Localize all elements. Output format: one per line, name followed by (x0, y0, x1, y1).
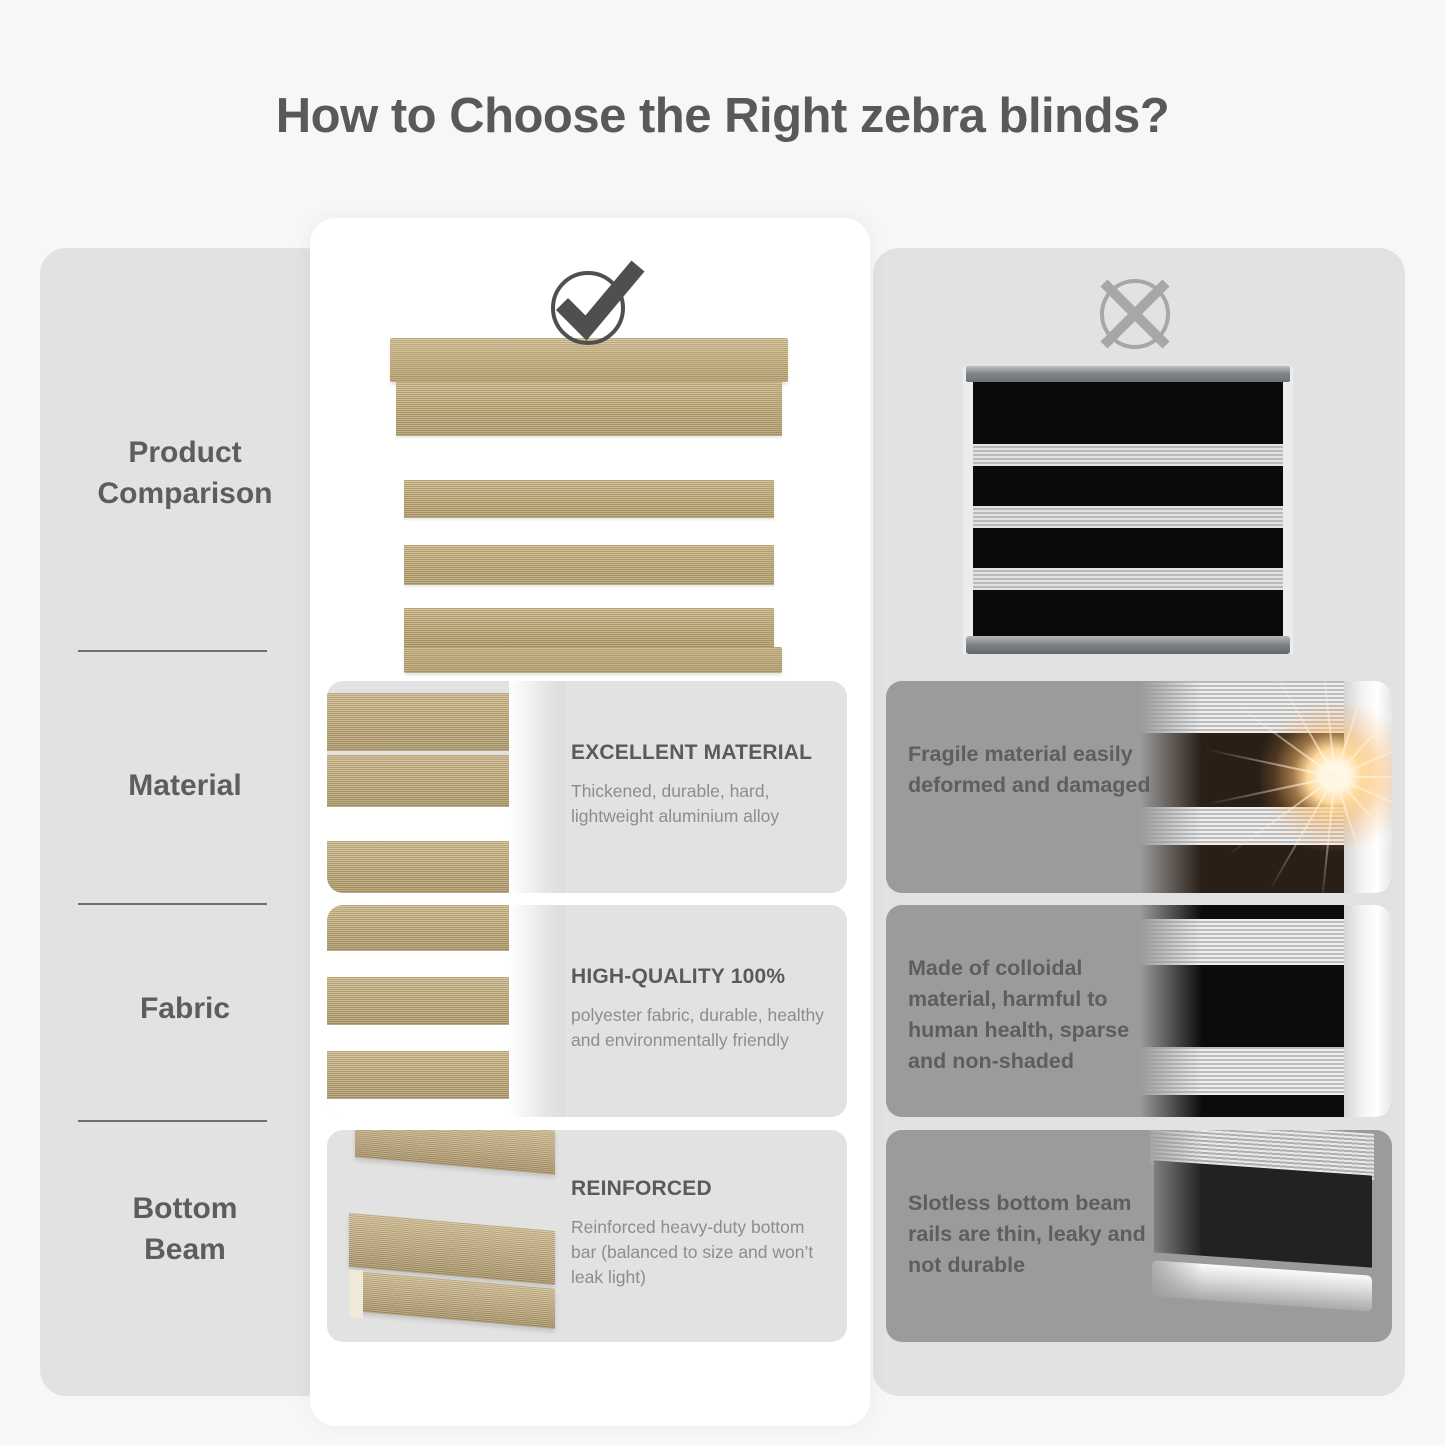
blind-slat (355, 1130, 555, 1175)
bottom-bar-end-cap (349, 1269, 363, 1318)
window-frame (509, 681, 565, 893)
good-feature-card-fabric: HIGH-QUALITY 100% polyester fabric, dura… (327, 905, 847, 1117)
good-feature-card-material: EXCELLENT MATERIAL Thickened, durable, h… (327, 681, 847, 893)
blind-slat (327, 977, 513, 1025)
window-frame (1344, 905, 1392, 1117)
bad-feature-text-fabric: Made of colloidal material, harmful to h… (908, 953, 1172, 1077)
blind-band-dark (973, 466, 1283, 506)
blind-gap (327, 951, 513, 977)
feature-body: Thickened, durable, hard, lightweight al… (571, 779, 833, 829)
blind-band-sheer (973, 444, 1283, 466)
blind-band-dark (973, 528, 1283, 568)
blind-bottom-rail (966, 636, 1290, 654)
bad-feature-image-material (1140, 681, 1392, 893)
blind-slat (404, 545, 774, 585)
window-frame (1344, 681, 1392, 893)
blind-band-sheer (973, 568, 1283, 590)
bad-feature-image-fabric (1140, 905, 1392, 1117)
feature-heading: REINFORCED (571, 1177, 833, 1201)
blind-gap (327, 1099, 513, 1117)
bad-feature-card-fabric: Made of colloidal material, harmful to h… (886, 905, 1392, 1117)
good-feature-text-material: EXCELLENT MATERIAL Thickened, durable, h… (571, 741, 833, 829)
page-title: How to Choose the Right zebra blinds? (0, 88, 1445, 144)
row-divider (78, 903, 267, 905)
feature-body: Reinforced heavy-duty bottom bar (balanc… (571, 1215, 833, 1290)
blind-headrail (966, 366, 1290, 382)
blind-band-dark (973, 382, 1283, 444)
blind-gap (327, 1025, 513, 1051)
good-feature-image-material (327, 681, 565, 893)
row-label-line: Bottom (40, 1188, 330, 1229)
good-feature-card-bottom-beam: REINFORCED Reinforced heavy-duty bottom … (327, 1130, 847, 1342)
row-divider (78, 1120, 267, 1122)
bad-hero-image (963, 366, 1293, 654)
row-label-material: Material (40, 765, 330, 806)
blind-slat (404, 608, 774, 648)
blind-slat (327, 1051, 513, 1099)
row-label-line: Comparison (40, 473, 330, 514)
cross-circle-icon (1085, 268, 1185, 360)
blind-slat (404, 480, 774, 518)
good-feature-image-fabric (327, 905, 565, 1117)
bad-feature-text-bottom-beam: Slotless bottom beam rails are thin, lea… (908, 1188, 1172, 1281)
blind-band-dark (973, 590, 1283, 636)
bad-feature-card-material: Fragile material easily deformed and dam… (886, 681, 1392, 893)
good-feature-text-fabric: HIGH-QUALITY 100% polyester fabric, dura… (571, 965, 833, 1053)
good-hero-image (384, 338, 794, 673)
window-frame (509, 905, 565, 1117)
blind-slat (327, 693, 513, 751)
blind-gap (327, 807, 513, 841)
bad-feature-card-bottom-beam: Slotless bottom beam rails are thin, lea… (886, 1130, 1392, 1342)
row-label-bottom-beam: Bottom Beam (40, 1188, 330, 1271)
feature-heading: HIGH-QUALITY 100% (571, 965, 833, 989)
good-feature-text-bottom-beam: REINFORCED Reinforced heavy-duty bottom … (571, 1177, 833, 1290)
check-circle-icon (540, 252, 650, 352)
row-label-fabric: Fabric (40, 988, 330, 1029)
row-label-product-comparison: Product Comparison (40, 432, 330, 515)
feature-body: polyester fabric, durable, healthy and e… (571, 1003, 833, 1053)
blind-band-sheer (973, 506, 1283, 528)
row-label-line: Beam (40, 1229, 330, 1270)
good-feature-image-bottom-beam (327, 1130, 565, 1342)
blind-slat (327, 755, 513, 807)
feature-heading: EXCELLENT MATERIAL (571, 741, 833, 765)
blind-slat (327, 841, 513, 893)
blind-slat (327, 905, 513, 951)
bad-feature-text-material: Fragile material easily deformed and dam… (908, 739, 1172, 801)
row-label-line: Product (40, 432, 330, 473)
bad-feature-image-bottom-beam (1140, 1130, 1392, 1342)
blind-bottom-bar (404, 647, 782, 673)
blind-slat (396, 382, 782, 436)
row-divider (78, 650, 267, 652)
